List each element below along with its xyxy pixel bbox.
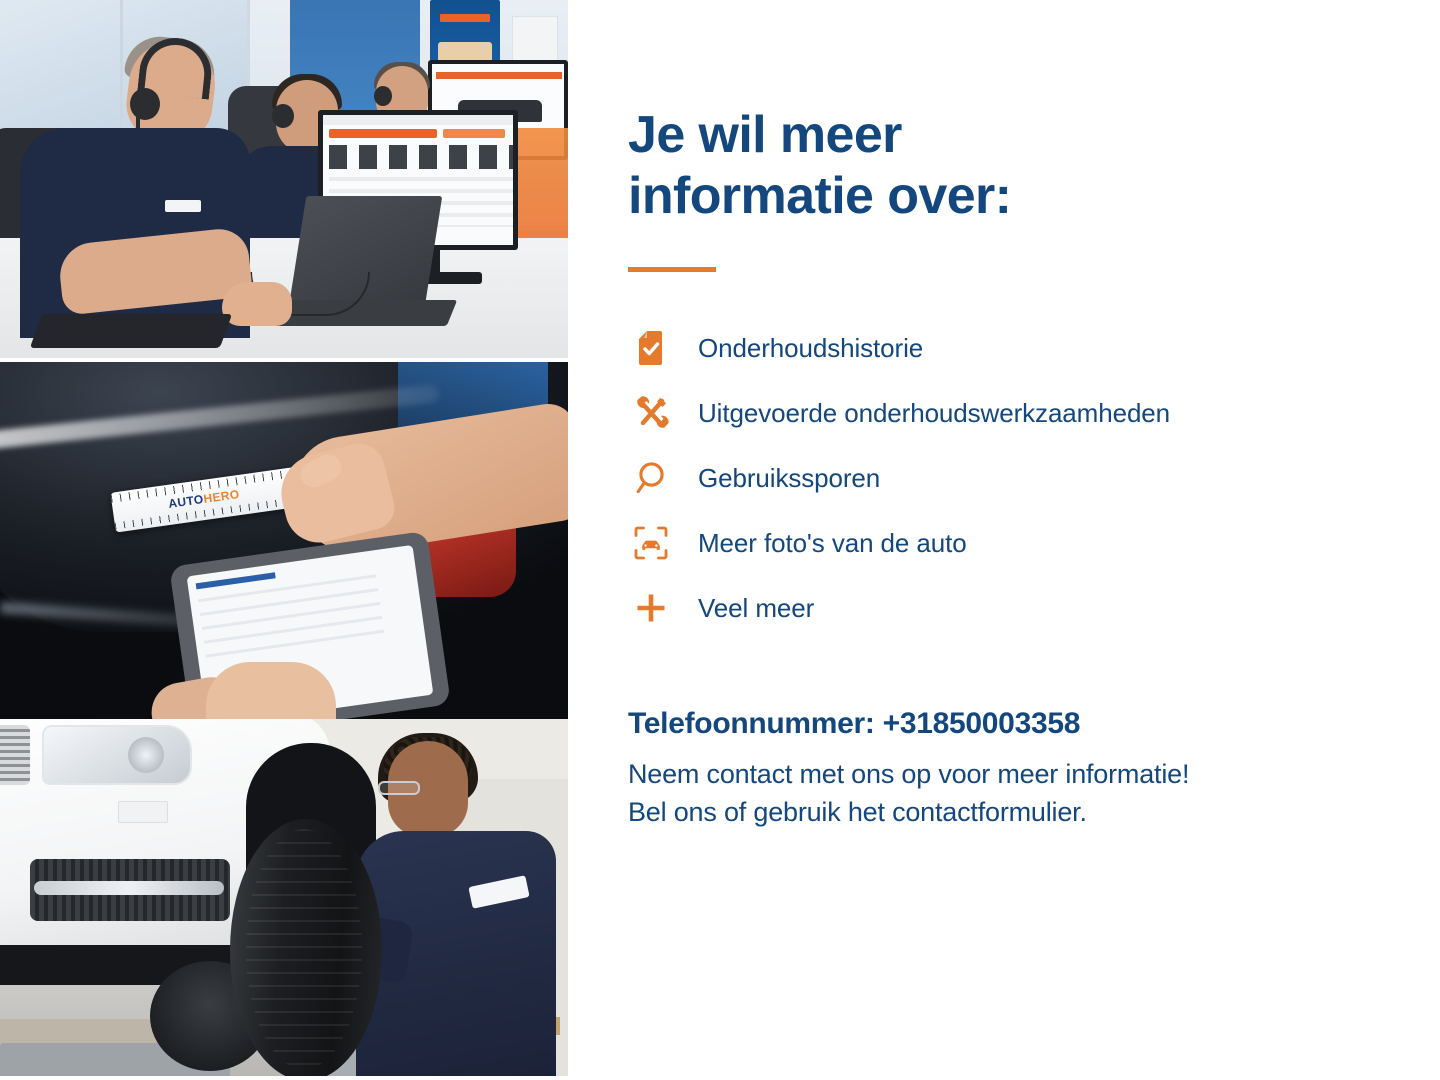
polo-logo-shape <box>165 200 201 212</box>
car-scan-icon <box>628 526 674 560</box>
page-title-line-1: Je wil meer <box>628 106 902 164</box>
list-item: Meer foto's van de auto <box>628 511 1440 576</box>
feature-list: Onderhoudshistorie Uitgevoerde onderhoud… <box>628 316 1440 641</box>
contact-line-2: Bel ons of gebruik het contactformulier. <box>628 797 1087 827</box>
list-item-label: Onderhoudshistorie <box>698 333 923 364</box>
tools-icon <box>628 395 674 431</box>
plus-icon <box>628 591 674 625</box>
content-panel: Je wil meer informatie over: Onderhoudsh… <box>568 0 1440 1080</box>
list-item-label: Meer foto's van de auto <box>698 528 967 559</box>
number-plate-shape <box>118 801 168 823</box>
chrome-trim-shape <box>34 881 224 895</box>
page-title: Je wil meer informatie over: <box>628 105 1148 227</box>
contact-text: Neem contact met ons op voor meer inform… <box>628 755 1440 832</box>
contact-line-1: Neem contact met ons op voor meer inform… <box>628 759 1189 789</box>
promo-banner: AUTOHERO <box>0 0 1440 1080</box>
tyre-service-photo <box>0 719 568 1076</box>
list-item-label: Uitgevoerde onderhoudswerkzaamheden <box>698 398 1170 429</box>
inspector-hand-shape <box>206 662 336 719</box>
magnifier-icon <box>628 461 674 495</box>
phone-number: Telefoonnummer: +31850003358 <box>628 707 1440 741</box>
headset-earcup-shape <box>272 104 294 128</box>
photo-strip: AUTOHERO <box>0 0 568 1080</box>
list-item-label: Veel meer <box>698 593 814 624</box>
list-item: Uitgevoerde onderhoudswerkzaamheden <box>628 381 1440 446</box>
agent-hand-shape <box>222 282 292 326</box>
callcenter-agents-photo <box>0 0 568 358</box>
title-divider <box>628 267 716 272</box>
list-item: Veel meer <box>628 576 1440 641</box>
desk-tablet-shape <box>30 314 232 348</box>
glasses-shape <box>378 781 420 795</box>
tyre-shape <box>230 819 382 1076</box>
list-item: Onderhoudshistorie <box>628 316 1440 381</box>
list-item-label: Gebruikssporen <box>698 463 880 494</box>
car-grille-shape <box>0 725 30 785</box>
page-title-line-2: informatie over: <box>628 167 1011 225</box>
headset-earcup-shape <box>374 86 392 106</box>
headlight-shape <box>42 725 192 785</box>
document-check-icon <box>628 330 674 366</box>
list-item: Gebruikssporen <box>628 446 1440 511</box>
car-inspection-photo: AUTOHERO <box>0 362 568 719</box>
